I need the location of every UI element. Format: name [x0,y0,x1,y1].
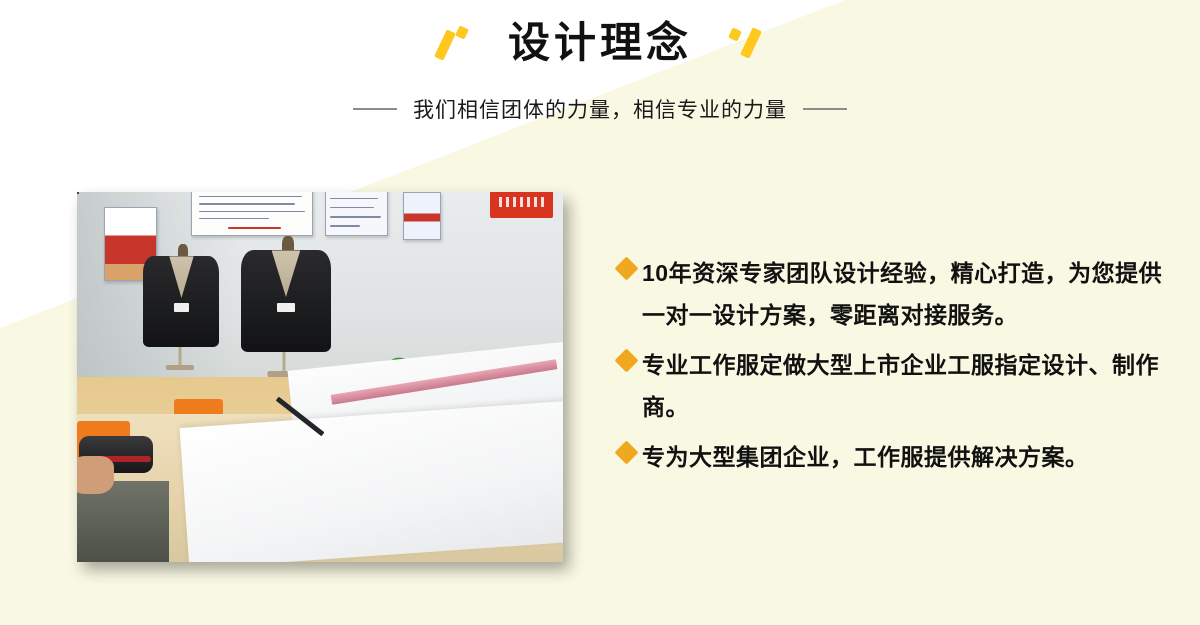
subtitle-dash-left [353,108,397,110]
wall-poster-4 [403,192,442,240]
page-title: 设计理念 [508,22,692,64]
mannequin-suit-right [237,236,334,377]
feature-item: 专为大型集团企业，工作服提供解决方案。 [618,436,1174,478]
video-camera [77,436,164,495]
diamond-bullet-icon [614,256,638,280]
photo-scene [77,192,563,562]
feature-item: 10年资深专家团队设计经验，精心打造，为您提供一对一设计方案，零距离对接服务。 [618,252,1174,336]
subtitle-dash-right [803,108,847,110]
feature-text: 专业工作服定做大型上市企业工服指定设计、制作商。 [642,344,1174,428]
red-banner [490,192,553,218]
slash-marks-icon-right [722,23,766,63]
title-row: 设计理念 [0,22,1200,64]
wall-poster-3 [325,192,388,236]
subtitle-row: 我们相信团体的力量，相信专业的力量 [0,94,1200,124]
feature-text: 专为大型集团企业，工作服提供解决方案。 [642,436,1089,478]
diamond-bullet-icon [614,348,638,372]
page-subtitle: 我们相信团体的力量，相信专业的力量 [413,94,787,124]
slash-marks-icon-left [434,23,478,63]
wall-poster-2 [191,192,313,236]
design-paper-front [179,400,563,562]
diamond-bullet-icon [614,440,638,464]
feature-list: 10年资深专家团队设计经验，精心打造，为您提供一对一设计方案，零距离对接服务。 … [618,252,1174,486]
feature-item: 专业工作服定做大型上市企业工服指定设计、制作商。 [618,344,1174,428]
mannequin-suit-left [140,244,223,370]
team-design-photo [77,192,563,562]
poster-canvas: 设计理念 我们相信团体的力量，相信专业的力量 [0,0,1200,625]
feature-text: 10年资深专家团队设计经验，精心打造，为您提供一对一设计方案，零距离对接服务。 [642,252,1174,336]
